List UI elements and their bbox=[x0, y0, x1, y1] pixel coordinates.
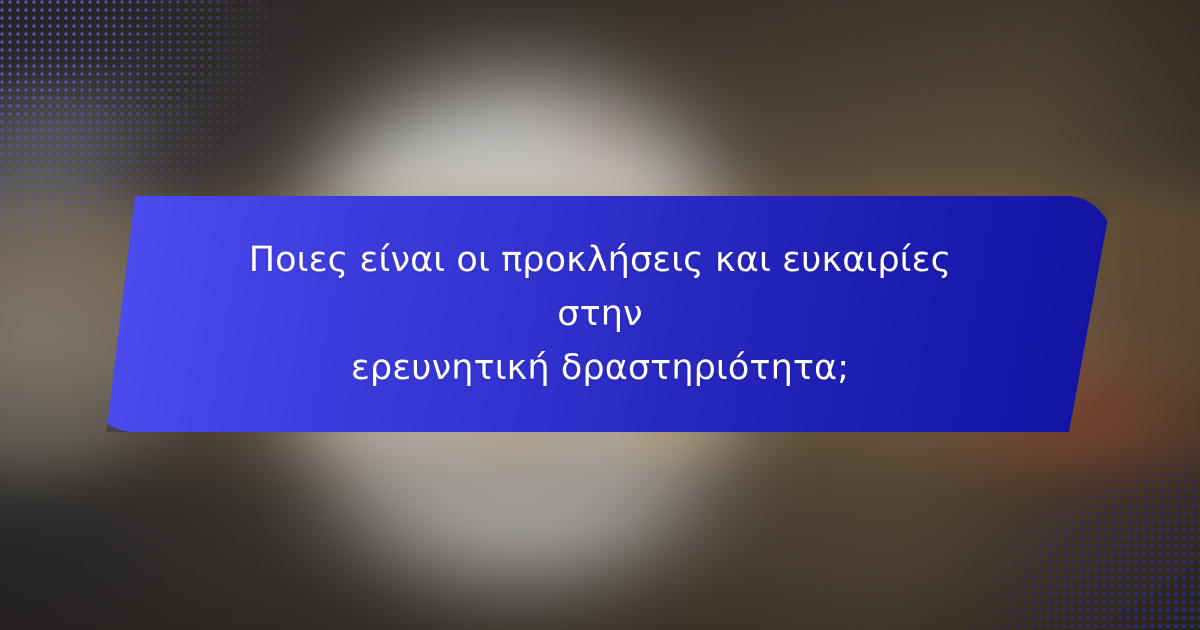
social-card-canvas: Ποιες είναι οι προκλήσεις και ευκαιρίες … bbox=[0, 0, 1200, 630]
question-card: Ποιες είναι οι προκλήσεις και ευκαιρίες … bbox=[88, 196, 1112, 432]
question-card-content: Ποιες είναι οι προκλήσεις και ευκαιρίες … bbox=[88, 196, 1112, 432]
question-text: Ποιες είναι οι προκλήσεις και ευκαιρίες … bbox=[208, 233, 992, 396]
question-text-line-1: Ποιες είναι οι προκλήσεις και ευκαιρίες … bbox=[249, 240, 952, 334]
question-text-line-2: ερευνητική δραστηριότητα; bbox=[351, 348, 849, 388]
